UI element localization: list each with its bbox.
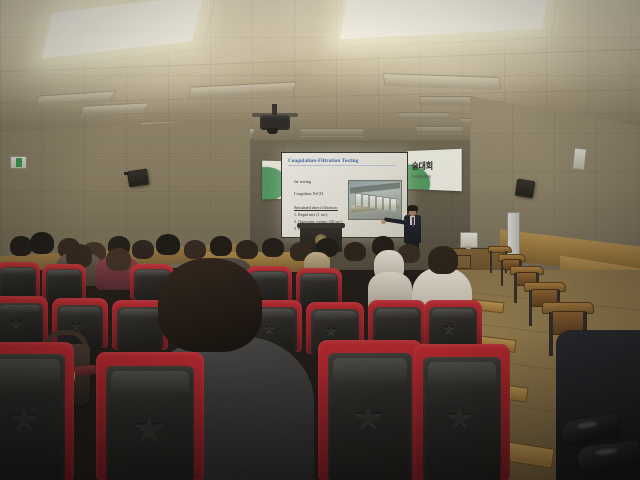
projector-lens: [267, 128, 278, 134]
star-emblem-icon: ★: [9, 402, 39, 436]
star-emblem-icon: ★: [442, 322, 456, 338]
seat-highlight: [428, 362, 497, 389]
audience-head: [428, 246, 458, 274]
slide-line-0: Jar testing: [294, 179, 311, 184]
ceiling-vent: [419, 96, 475, 106]
ceiling-vent: [300, 128, 364, 137]
seat-shell: ★: [106, 366, 194, 480]
seat[interactable]: [0, 262, 40, 298]
foreground-person-head: [158, 258, 262, 352]
seat[interactable]: ★: [0, 296, 48, 346]
seat-shell: [117, 307, 163, 350]
projector: [258, 104, 292, 134]
shoe-highlight: [577, 421, 598, 429]
slide-title-rule: [288, 165, 396, 166]
presenter-hand: [381, 220, 386, 224]
ceiling-vent: [415, 126, 465, 134]
seat-highlight: [0, 359, 60, 387]
seat-highlight: [302, 274, 335, 281]
lectern-top: [297, 223, 345, 228]
exit-sign: [10, 156, 27, 169]
slide-photo-jar: [376, 196, 383, 210]
exit-sign-green-panel: [16, 158, 22, 167]
seat-shell: ★: [0, 354, 65, 480]
seat-shell: ★: [423, 357, 501, 480]
seat[interactable]: [42, 264, 86, 300]
bag-strap: [74, 365, 97, 376]
star-emblem-icon: ★: [352, 399, 384, 435]
seat-shell: ★: [328, 353, 412, 480]
wall-speaker-right: [515, 179, 535, 199]
slide-photo-jar: [362, 194, 369, 208]
seat-highlight: [136, 270, 168, 277]
seat-highlight: [2, 268, 34, 275]
audience-head: [236, 240, 258, 259]
seat-highlight: [376, 309, 418, 319]
star-emblem-icon: ★: [262, 322, 276, 338]
star-emblem-icon: ★: [132, 410, 166, 448]
banner-subtitle-text: 한국물환경학회: [412, 174, 431, 179]
seat-highlight: [333, 358, 407, 386]
chair-leg: [549, 312, 553, 356]
seat-highlight: [432, 309, 474, 319]
audience-head: [344, 242, 366, 261]
seat[interactable]: ★: [0, 342, 74, 480]
lecture-hall-photo: 술대회 한국물환경학회 Coagulation-Filtration Testi…: [0, 0, 640, 480]
audience-head: [132, 240, 154, 259]
seat-shell: [46, 269, 82, 300]
star-emblem-icon: ★: [324, 324, 338, 340]
star-emblem-icon: ★: [9, 317, 23, 333]
slide-photo-jar: [355, 193, 362, 207]
wall-control-panel[interactable]: [572, 147, 587, 170]
banner-right: 술대회 한국물환경학회: [407, 149, 461, 191]
seat-highlight: [0, 305, 40, 314]
seat-highlight: [314, 311, 356, 321]
seat-shell: [0, 267, 36, 298]
presenter-tie: [412, 217, 414, 227]
seat[interactable]: [296, 268, 342, 306]
slide-photo-jar: [383, 197, 390, 211]
presenter-hair: [407, 205, 418, 211]
star-emblem-icon: ★: [445, 401, 474, 433]
seat-shell: ★: [0, 303, 43, 346]
seat-highlight: [252, 272, 285, 279]
audience-head: [210, 236, 232, 256]
slide-photo-jar: [369, 195, 376, 209]
slide-photo: [348, 180, 402, 220]
monitor-stand: [466, 246, 471, 249]
slide-line-3: 1. Rapid mix (1 sec): [294, 212, 328, 217]
chair-leg: [501, 260, 503, 286]
seat-highlight: [60, 307, 100, 316]
audience-head: [10, 236, 32, 256]
chair-leg: [529, 290, 532, 326]
audience-head: [184, 240, 206, 259]
seat[interactable]: ★: [414, 344, 510, 480]
audience-head: [106, 248, 131, 271]
ceiling-vent: [397, 112, 451, 120]
audience-head: [262, 238, 284, 257]
wall-speaker-left: [127, 169, 149, 188]
slide-line-2: Simulated direct filtration:: [294, 205, 338, 210]
banner-title-text: 술대회: [412, 159, 433, 172]
chair-leg: [490, 251, 492, 273]
slide-photo-bg-shelf: [350, 182, 400, 193]
chair-leg: [514, 273, 517, 303]
seat[interactable]: ★: [96, 352, 204, 480]
seat-highlight: [120, 309, 160, 318]
shoe-highlight: [595, 448, 617, 456]
seat-highlight: [48, 270, 80, 277]
ceiling-fixture: [79, 102, 149, 115]
ceiling-fixture: [382, 73, 501, 90]
seat[interactable]: ★: [318, 340, 422, 480]
audience-head-cap: [30, 232, 54, 254]
slide-line-1: Coagulant: FeCl3: [294, 191, 323, 196]
audience-head: [156, 234, 180, 255]
seat-highlight: [111, 371, 188, 396]
slide-title: Coagulation-Filtration Testing: [288, 158, 358, 164]
